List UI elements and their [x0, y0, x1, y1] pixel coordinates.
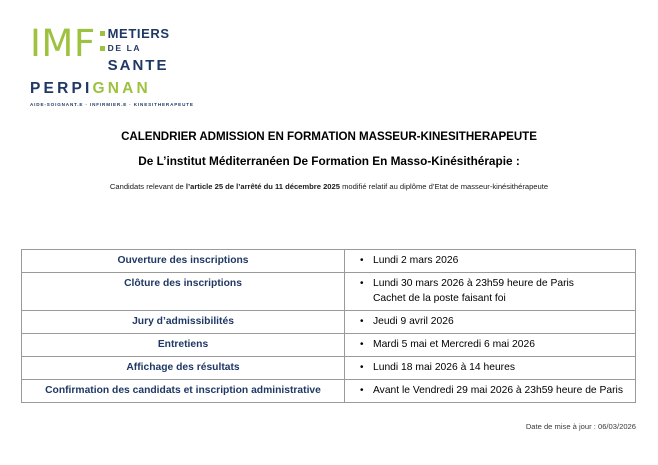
logo-perpignan-dark: PERPI [30, 80, 93, 97]
list-item-primary: Mardi 5 mai et Mercredi 6 mai 2026 [373, 339, 535, 350]
table-row: Entretiens Mardi 5 mai et Mercredi 6 mai… [22, 334, 636, 357]
logo-perpignan-green: GNAN [93, 80, 151, 97]
list-item: Jeudi 9 avril 2026 [373, 314, 629, 329]
table-row: Confirmation des candidats et inscriptio… [22, 380, 636, 403]
list-item-primary: Lundi 30 mars 2026 à 23h59 heure de Pari… [373, 278, 574, 289]
bullet-list: Lundi 2 mars 2026 [345, 253, 629, 268]
table-row: Jury d’admissibilités Jeudi 9 avril 2026 [22, 311, 636, 334]
logo-sante-text: SANTE [108, 57, 169, 74]
green-square-icon [100, 46, 105, 51]
row-label: Entretiens [22, 334, 345, 357]
list-item: Mardi 5 mai et Mercredi 6 mai 2026 [373, 337, 629, 352]
list-item: Lundi 2 mars 2026 [373, 253, 629, 268]
list-item-primary: Lundi 2 mars 2026 [373, 255, 458, 266]
logo-tagline: AIDE-SOIGNANT.E · INFIRMIER.E · KINESITH… [30, 102, 230, 107]
list-item-primary: Jeudi 9 avril 2026 [373, 316, 454, 327]
row-value: Lundi 30 mars 2026 à 23h59 heure de Pari… [345, 273, 636, 311]
regulation-note: Candidats relevant de l’article 25 de l’… [0, 182, 658, 191]
logo-primary-row: IMF METIERS DE LA SANTE [30, 24, 230, 74]
list-item: Avant le Vendredi 29 mai 2026 à 23h59 he… [373, 383, 629, 398]
row-value: Lundi 2 mars 2026 [345, 250, 636, 273]
list-item-secondary: Cachet de la poste faisant foi [373, 291, 629, 306]
row-label: Jury d’admissibilités [22, 311, 345, 334]
green-square-icon [100, 31, 105, 36]
table-row: Affichage des résultats Lundi 18 mai 202… [22, 357, 636, 380]
list-item-primary: Lundi 18 mai 2026 à 14 heures [373, 362, 515, 373]
bullet-list: Lundi 18 mai 2026 à 14 heures [345, 360, 629, 375]
list-item-primary: Avant le Vendredi 29 mai 2026 à 23h59 he… [373, 385, 623, 396]
table-row: Ouverture des inscriptions Lundi 2 mars … [22, 250, 636, 273]
logo-dela-text: DE LA [108, 43, 142, 54]
row-value: Jeudi 9 avril 2026 [345, 311, 636, 334]
row-label: Affichage des résultats [22, 357, 345, 380]
logo-dela-row: DE LA [100, 41, 170, 56]
row-value: Lundi 18 mai 2026 à 14 heures [345, 357, 636, 380]
imf-logo: IMF METIERS DE LA SANTE PERPIGNAN AIDE-S… [30, 24, 230, 102]
row-label: Confirmation des candidats et inscriptio… [22, 380, 345, 403]
logo-sante-row: SANTE [100, 56, 170, 74]
page-subtitle-institute: De L’institut Méditerranéen De Formation… [0, 154, 658, 168]
logo-metiers-row: METIERS [100, 26, 170, 41]
table-row: Clôture des inscriptions Lundi 30 mars 2… [22, 273, 636, 311]
regulation-note-suffix: modifié relatif au diplôme d’Etat de mas… [340, 182, 548, 191]
list-item: Lundi 30 mars 2026 à 23h59 heure de Pari… [373, 276, 629, 306]
list-item: Lundi 18 mai 2026 à 14 heures [373, 360, 629, 375]
logo-metiers-text: METIERS [108, 27, 170, 41]
row-value: Avant le Vendredi 29 mai 2026 à 23h59 he… [345, 380, 636, 403]
calendar-table-body: Ouverture des inscriptions Lundi 2 mars … [22, 250, 636, 403]
regulation-note-article: l’article 25 de l’arrêté du 11 décembre … [186, 182, 340, 191]
row-label: Clôture des inscriptions [22, 273, 345, 311]
logo-imf-wordmark: IMF [30, 24, 96, 64]
page-title: CALENDRIER ADMISSION EN FORMATION MASSEU… [0, 130, 658, 143]
row-label: Ouverture des inscriptions [22, 250, 345, 273]
calendar-table: Ouverture des inscriptions Lundi 2 mars … [21, 249, 636, 403]
bullet-list: Lundi 30 mars 2026 à 23h59 heure de Pari… [345, 276, 629, 306]
row-value: Mardi 5 mai et Mercredi 6 mai 2026 [345, 334, 636, 357]
bullet-list: Jeudi 9 avril 2026 [345, 314, 629, 329]
bullet-list: Mardi 5 mai et Mercredi 6 mai 2026 [345, 337, 629, 352]
bullet-list: Avant le Vendredi 29 mai 2026 à 23h59 he… [345, 383, 629, 398]
logo-perpignan: PERPIGNAN [30, 80, 230, 98]
logo-text-stack: METIERS DE LA SANTE [100, 24, 170, 74]
spacer-square [100, 63, 105, 68]
regulation-note-prefix: Candidats relevant de [110, 182, 186, 191]
last-updated-date: Date de mise à jour : 06/03/2026 [526, 422, 636, 431]
